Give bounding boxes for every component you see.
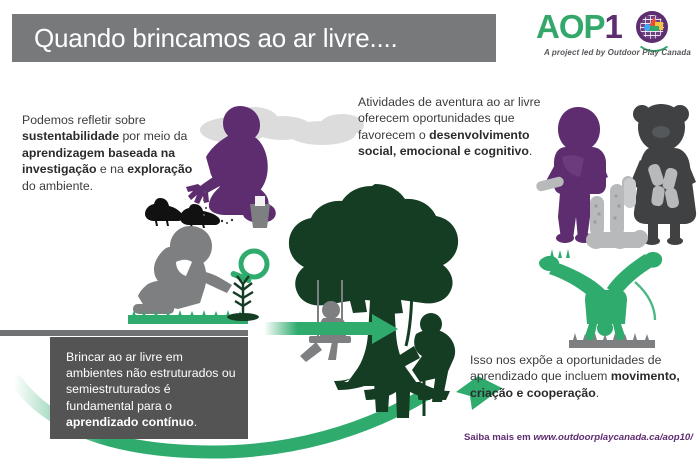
- learn-more-label: Saiba mais em: [464, 432, 533, 443]
- logo-aop-text: AOP: [536, 8, 605, 45]
- text-block-adventure: Atividades de aventura ao ar livre ofere…: [358, 94, 554, 160]
- logo-one-text: 1: [605, 8, 622, 45]
- aop10-logo[interactable]: AOP1 A project led by Outdoor Play Canad…: [528, 10, 692, 62]
- logo-wordmark: AOP1: [536, 10, 622, 44]
- text-card-unstructured-play: Brincar ao ar livre em ambientes não est…: [50, 337, 248, 439]
- text-block-inquiry: Podemos refletir sobre sustentabilidade …: [22, 112, 200, 194]
- seeds-icon: [200, 188, 210, 218]
- cartwheel-child: [535, 252, 687, 348]
- tree-with-swing-and-climber: [276, 184, 488, 426]
- text-block-unstructured-play: Brincar ao ar livre em ambientes não est…: [66, 349, 236, 430]
- infographic-canvas: Quando brincamos ao ar livre.... AOP1 A …: [0, 0, 700, 464]
- grass-sprig-icon: [548, 246, 574, 258]
- text-block-movement: Isso nos expõe a oportunidades de aprend…: [470, 352, 684, 401]
- loose-parts-construction: [580, 178, 652, 252]
- plant-icon: [216, 268, 270, 320]
- learn-more-url[interactable]: www.outdoorplaycanada.ca/aop10/: [533, 432, 693, 443]
- title-banner: Quando brincamos ao ar livre....: [12, 14, 496, 62]
- ground-bar: [0, 330, 248, 336]
- logo-tagline: A project led by Outdoor Play Canada: [544, 48, 691, 57]
- page-title: Quando brincamos ao ar livre....: [12, 23, 398, 54]
- learn-more-note[interactable]: Saiba mais em www.outdoorplaycanada.ca/a…: [464, 432, 693, 443]
